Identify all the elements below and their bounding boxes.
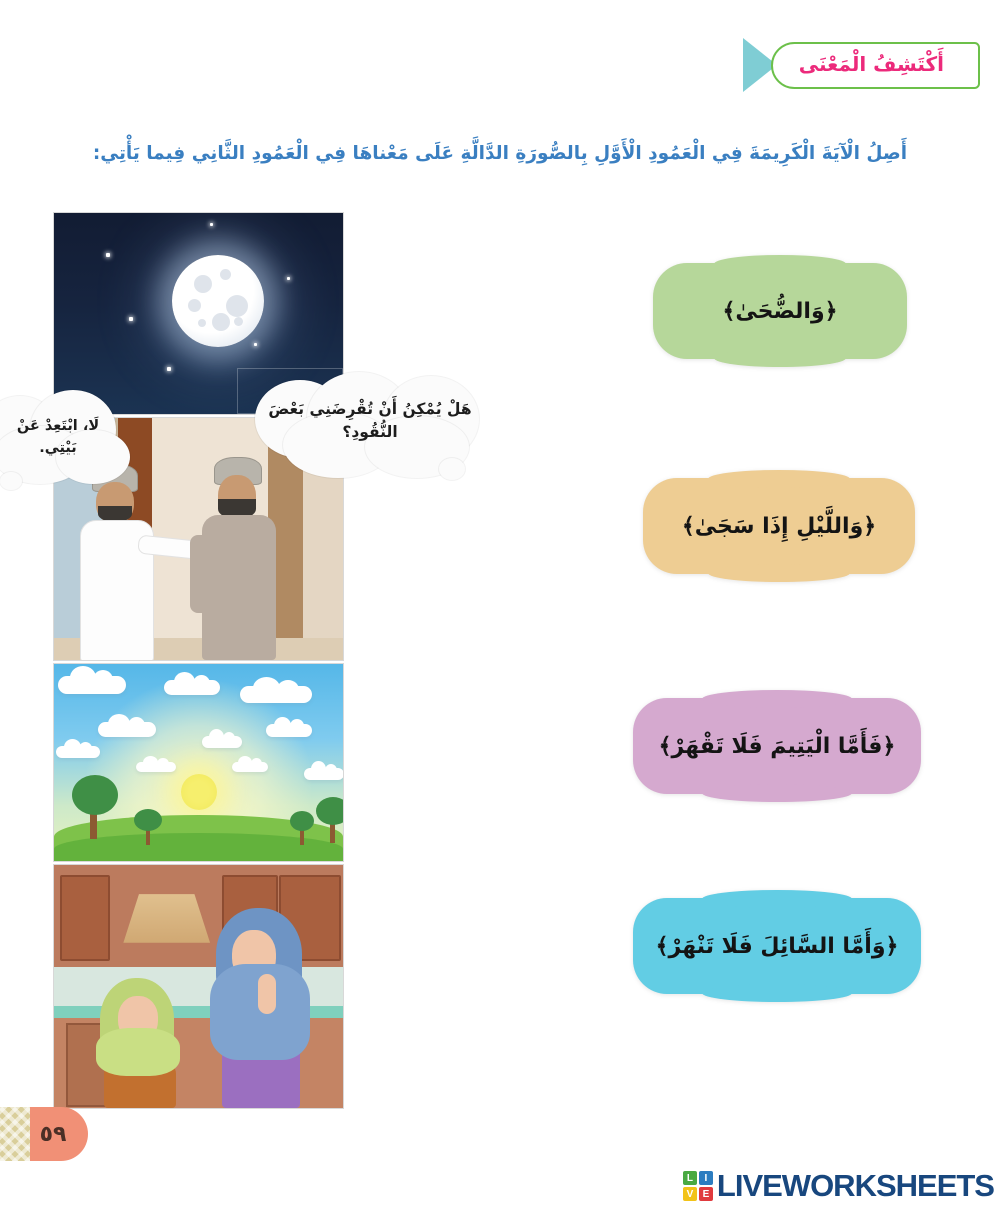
girl-green-hijab xyxy=(96,978,186,1108)
cloud-icon xyxy=(232,762,268,772)
image-kitchen-scene[interactable] xyxy=(53,864,344,1109)
speech-bubble-left: لَا، ابْتَعِدْ عَنْ بَيْتِي. xyxy=(0,390,137,490)
logo-tile-i: I xyxy=(699,1171,713,1185)
star-icon xyxy=(129,317,133,321)
cloud-icon xyxy=(304,768,344,780)
tree-crown xyxy=(72,775,118,815)
badge-box: أَكْتَشِفُ الْمَعْنَى xyxy=(771,42,980,89)
verse-card-2[interactable]: ﴿وَاللَّيْلِ إِذَا سَجَىٰ﴾ xyxy=(643,478,915,574)
speech-bubble-left-text: لَا، ابْتَعِدْ عَنْ بَيْتِي. xyxy=(0,416,118,460)
star-icon xyxy=(167,367,171,371)
logo-tile-l: L xyxy=(683,1171,697,1185)
speech-bubble-right-text: هَلْ يُمْكِنُ أَنْ تُقْرِضَنِي بَعْضَ ال… xyxy=(265,398,475,445)
star-icon xyxy=(210,223,213,226)
page-number-pattern xyxy=(0,1107,30,1161)
verse-card-1-text: ﴿وَالضُّحَىٰ﴾ xyxy=(706,299,853,324)
star-icon xyxy=(287,277,290,280)
man-white-thobe xyxy=(68,460,178,660)
verse-card-2-text: ﴿وَاللَّيْلِ إِذَا سَجَىٰ﴾ xyxy=(666,514,892,539)
page-number-text: ٥٩ xyxy=(40,1122,67,1147)
tree-crown xyxy=(316,797,344,825)
worksheet-page: أَكْتَشِفُ الْمَعْنَى أَصِلُ الْآيَةَ ال… xyxy=(0,0,1000,1213)
logo-tiles: L I V E xyxy=(683,1171,713,1201)
verse-card-4-text: ﴿وَأَمَّا السَّائِلَ فَلَا تَنْهَرْ﴾ xyxy=(640,934,915,959)
cloud-icon xyxy=(164,680,220,695)
cloud-icon xyxy=(56,746,100,758)
cloud-icon xyxy=(240,686,312,703)
liveworksheets-logo[interactable]: L I V E LIVEWORKSHEETS xyxy=(683,1168,994,1204)
logo-tile-e: E xyxy=(699,1187,713,1201)
speech-bubble-right: هَلْ يُمْكِنُ أَنْ تُقْرِضَنِي بَعْضَ ال… xyxy=(255,372,485,482)
star-icon xyxy=(106,253,110,257)
star-icon xyxy=(254,343,257,346)
tree-crown xyxy=(290,811,314,831)
cloud-icon xyxy=(266,724,312,737)
moon-icon xyxy=(172,255,264,347)
verse-card-1[interactable]: ﴿وَالضُّحَىٰ﴾ xyxy=(653,263,907,359)
section-header-badge: أَكْتَشِفُ الْمَعْنَى xyxy=(743,38,980,92)
cloud-icon xyxy=(136,762,176,772)
cloud-icon xyxy=(98,722,156,737)
cloud-icon xyxy=(58,676,126,694)
man-beige-thobe xyxy=(188,455,298,660)
image-column xyxy=(53,212,344,1111)
kitchen-cabinet xyxy=(60,875,110,962)
verse-card-3-text: ﴿فَأَمَّا الْيَتِيمَ فَلَا تَقْهَرْ﴾ xyxy=(643,734,912,759)
image-sunny-day-scene[interactable] xyxy=(53,663,344,862)
tree-crown xyxy=(134,809,162,831)
woman-blue-hijab xyxy=(206,908,316,1108)
badge-label: أَكْتَشِفُ الْمَعْنَى xyxy=(799,52,944,77)
cloud-icon xyxy=(202,736,242,748)
logo-wordmark: LIVEWORKSHEETS xyxy=(717,1168,994,1204)
logo-tile-v: V xyxy=(683,1187,697,1201)
verse-card-4[interactable]: ﴿وَأَمَّا السَّائِلَ فَلَا تَنْهَرْ﴾ xyxy=(633,898,921,994)
page-number-badge: ٥٩ xyxy=(0,1107,88,1161)
instruction-text: أَصِلُ الْآيَةَ الْكَرِيمَةَ فِي الْعَمُ… xyxy=(46,138,954,170)
verse-card-3[interactable]: ﴿فَأَمَّا الْيَتِيمَ فَلَا تَقْهَرْ﴾ xyxy=(633,698,921,794)
